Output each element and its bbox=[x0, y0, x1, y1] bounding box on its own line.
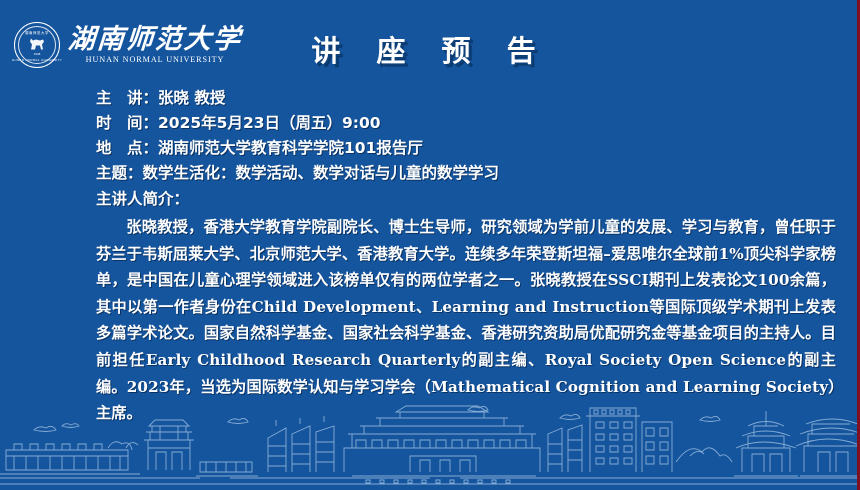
detail-label-topic: 主题： bbox=[96, 164, 143, 182]
detail-label-speaker: 主 讲： bbox=[96, 89, 158, 107]
detail-row-time: 时 间：2025年5月23日（周五）9:00 bbox=[96, 111, 836, 136]
detail-value-time: 2025年5月23日（周五）9:00 bbox=[158, 114, 381, 132]
page-title: 讲 座 预 告 bbox=[0, 28, 860, 70]
lecture-details: 主 讲：张晓 教授 时 间：2025年5月23日（周五）9:00 地 点：湖南师… bbox=[96, 86, 836, 427]
detail-row-location: 地 点：湖南师范大学教育科学学院101报告厅 bbox=[96, 136, 836, 161]
detail-label-location: 地 点： bbox=[96, 139, 158, 157]
detail-row-topic: 主题：数学生活化：数学活动、数学对话与儿童的数学学习 bbox=[96, 161, 836, 186]
speaker-bio-heading: 主讲人简介： bbox=[96, 186, 836, 213]
detail-row-speaker: 主 讲：张晓 教授 bbox=[96, 86, 836, 111]
detail-value-topic: 数学生活化：数学活动、数学对话与儿童的数学学习 bbox=[143, 164, 500, 182]
detail-value-location: 湖南师范大学教育科学学院101报告厅 bbox=[158, 139, 423, 157]
detail-value-speaker: 张晓 教授 bbox=[158, 89, 225, 107]
speaker-bio-body: 张晓教授，香港大学教育学院副院长、博士生导师，研究领域为学前儿童的发展、学习与教… bbox=[96, 214, 836, 427]
detail-label-time: 时 间： bbox=[96, 114, 158, 132]
poster-header: 湖南师范大学 1938 HUNAN NORMAL UNIVERSITY 湖南师范… bbox=[0, 0, 860, 80]
lecture-announcement-poster: 湖南师范大学 1938 HUNAN NORMAL UNIVERSITY 湖南师范… bbox=[0, 0, 860, 490]
